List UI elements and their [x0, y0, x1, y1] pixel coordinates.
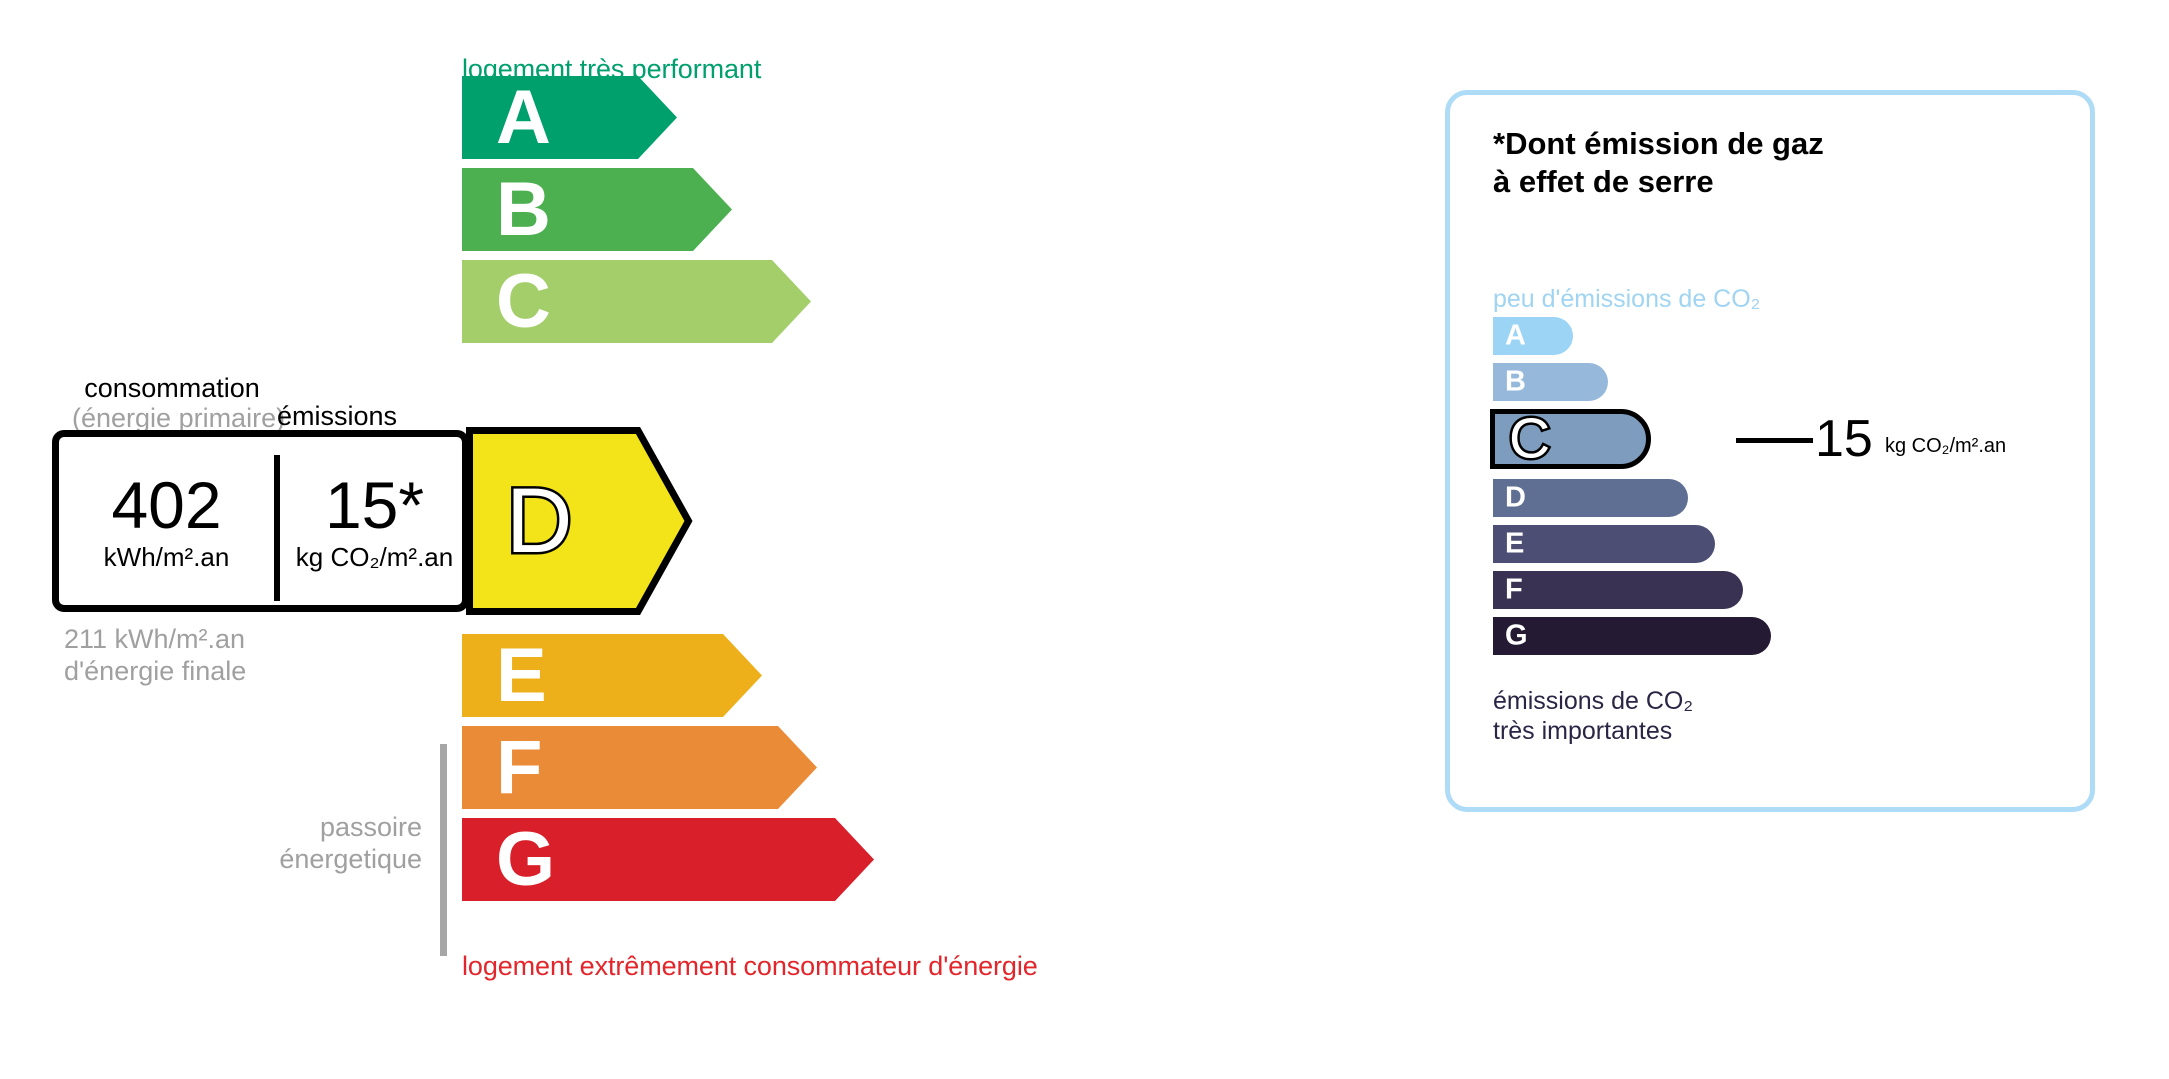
- energy-arrow-a: A: [462, 76, 677, 159]
- energy-class-letter-e: E: [496, 638, 547, 714]
- co2-bottom-line2: très importantes: [1493, 717, 1672, 745]
- emission-cell: 15* kg CO₂/m².an: [280, 437, 469, 605]
- co2-bar-e: [1493, 525, 1715, 563]
- co2-panel-title: *Dont émission de gaz à effet de serre: [1493, 125, 1824, 201]
- co2-letter-c: C: [1509, 411, 1550, 468]
- co2-letter-g: G: [1505, 622, 1528, 651]
- co2-row-f: F: [1493, 571, 2053, 609]
- co2-value-unit: kg CO₂/m².an: [1885, 435, 2006, 458]
- co2-row-b: B: [1493, 363, 2053, 401]
- energy-class-letter-b: B: [496, 172, 551, 248]
- consommation-label: consommation (énergie primaire): [72, 373, 272, 433]
- co2-bottom-line1: émissions de CO₂: [1493, 687, 1693, 715]
- emission-value: 15*: [325, 472, 424, 538]
- final-energy-line2: d'énergie finale: [64, 656, 246, 686]
- energy-class-row-f: F: [462, 726, 817, 809]
- energy-bottom-caption: logement extrêmement consommateur d'éner…: [462, 951, 1038, 982]
- co2-letter-b: B: [1505, 368, 1526, 397]
- emissions-label: émissions: [277, 401, 397, 432]
- dpe-diagram: logement très performant A B: [0, 0, 2169, 1079]
- energy-class-letter-d: D: [506, 475, 572, 567]
- consumption-emission-box: 402 kWh/m².an 15* kg CO₂/m².an: [52, 430, 469, 612]
- consumption-value: 402: [111, 472, 221, 538]
- co2-row-a: A: [1493, 317, 2053, 355]
- passoire-line2: énergetique: [279, 844, 422, 874]
- energy-class-row-e: E: [462, 634, 762, 717]
- co2-letter-a: A: [1505, 322, 1526, 351]
- energy-class-letter-c: C: [496, 264, 551, 340]
- passoire-label: passoire énergetique: [250, 812, 422, 876]
- energy-scale-panel: logement très performant A B: [0, 0, 1400, 1079]
- energy-class-letter-f: F: [496, 730, 542, 806]
- energy-arrow-f: F: [462, 726, 817, 809]
- consumption-unit: kWh/m².an: [104, 544, 230, 570]
- co2-row-e: E: [1493, 525, 2053, 563]
- energy-class-row-g: G: [462, 818, 874, 901]
- co2-panel: *Dont émission de gaz à effet de serre p…: [1445, 90, 2095, 812]
- passoire-bracket-line: [440, 744, 447, 956]
- energy-class-letter-g: G: [496, 822, 555, 898]
- energy-arrow-g: G: [462, 818, 874, 901]
- co2-title-line2: à effet de serre: [1493, 164, 1714, 199]
- energy-arrow-e: E: [462, 634, 762, 717]
- co2-letter-f: F: [1505, 576, 1523, 605]
- energy-arrow-c: C: [462, 260, 811, 343]
- co2-bottom-caption: émissions de CO₂ très importantes: [1493, 686, 1693, 746]
- final-energy-label: 211 kWh/m².an d'énergie finale: [64, 624, 246, 688]
- co2-top-caption: peu d'émissions de CO₂: [1493, 285, 1760, 314]
- co2-row-d: D: [1493, 479, 2053, 517]
- co2-leader-line: [1736, 438, 1813, 443]
- energy-class-row-c: C: [462, 260, 811, 343]
- energy-class-letter-a: A: [496, 80, 551, 156]
- energy-class-row-a: A: [462, 76, 677, 159]
- energy-arrow-b: B: [462, 168, 732, 251]
- emission-unit: kg CO₂/m².an: [296, 544, 453, 570]
- co2-bar-f: [1493, 571, 1743, 609]
- energy-arrow-d-wrap: D: [466, 427, 692, 615]
- consommation-label-sub: (énergie primaire): [72, 403, 285, 433]
- co2-value: 15: [1815, 409, 1873, 469]
- co2-row-g: G: [1493, 617, 2053, 655]
- co2-row-c: C 15 kg CO₂/m².an: [1493, 409, 2053, 469]
- final-energy-line1: 211 kWh/m².an: [64, 624, 245, 654]
- consommation-label-main: consommation: [84, 373, 260, 403]
- co2-bar-g: [1493, 617, 1771, 655]
- co2-letter-e: E: [1505, 530, 1524, 559]
- energy-arrow-d: D: [466, 427, 692, 615]
- passoire-line1: passoire: [320, 812, 422, 842]
- energy-class-row-b: B: [462, 168, 732, 251]
- co2-letter-d: D: [1505, 484, 1526, 513]
- co2-title-line1: *Dont émission de gaz: [1493, 126, 1824, 161]
- co2-bar-list: A B C 15 kg CO₂/m².an D E: [1493, 317, 2053, 663]
- consumption-cell: 402 kWh/m².an: [59, 437, 274, 605]
